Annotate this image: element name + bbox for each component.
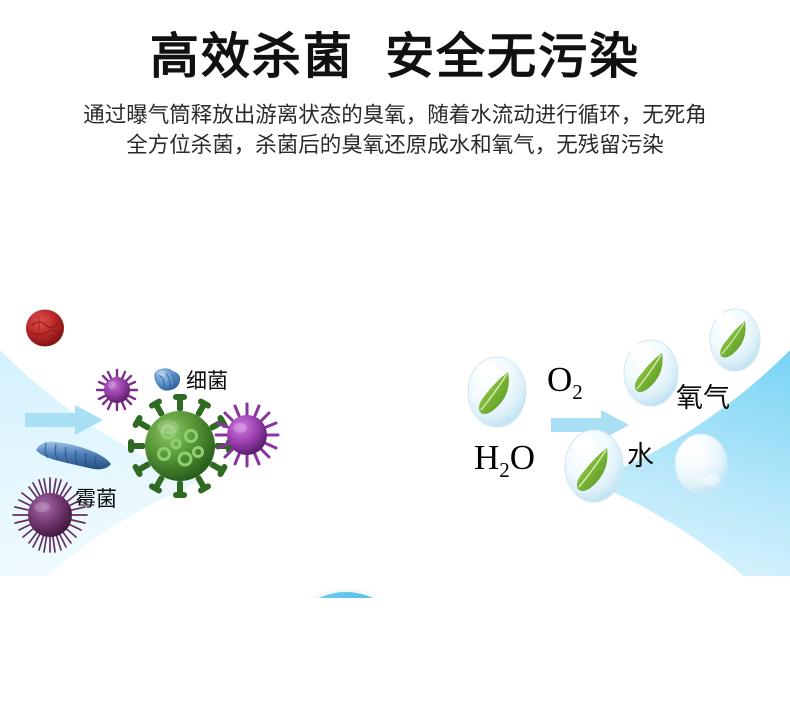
ozone-label: 臭氧 bbox=[272, 592, 420, 598]
formula-h2o-h: H bbox=[474, 438, 499, 477]
label-bacteria: 细菌 bbox=[186, 365, 228, 395]
page-title: 高效杀菌 安全无污染 bbox=[0, 33, 790, 82]
header-block: 高效杀菌 安全无污染 通过曝气筒释放出游离状态的臭氧，随着水流动进行循环，无死角… bbox=[0, 0, 790, 160]
formula-o2-sub: 2 bbox=[572, 380, 583, 404]
subtitle-line-2: 全方位杀菌，杀菌后的臭氧还原成水和氧气，无残留污染 bbox=[22, 130, 768, 160]
arrow-flow-in bbox=[25, 403, 103, 437]
formula-h2o: H2O bbox=[474, 438, 535, 483]
ozone-orb: 臭氧 bbox=[272, 592, 420, 598]
label-mold: 霉菌 bbox=[75, 483, 117, 513]
subtitle-line-1: 通过曝气筒释放出游离状态的臭氧，随着水流动进行循环，无死角 bbox=[22, 100, 768, 130]
bubble-plain-1 bbox=[673, 432, 729, 496]
germ-blue-rod bbox=[30, 436, 116, 472]
bubble-leaf-4 bbox=[563, 428, 625, 504]
bubble-leaf-3 bbox=[708, 307, 762, 373]
germ-red-blob bbox=[22, 305, 68, 351]
label-oxygen-gas: 氧气 bbox=[676, 376, 730, 415]
formula-o2-text: O bbox=[547, 360, 572, 399]
ozone-process-diagram: 细菌 bbox=[0, 248, 790, 598]
label-water: 水 bbox=[627, 434, 654, 473]
germ-purple-spiky-large bbox=[212, 400, 282, 470]
bubble-leaf-2 bbox=[622, 338, 680, 408]
bubble-leaf-1 bbox=[466, 355, 528, 429]
formula-o2: O2 bbox=[547, 360, 583, 405]
germ-blue-amoeba bbox=[150, 364, 184, 394]
page-subtitle: 通过曝气筒释放出游离状态的臭氧，随着水流动进行循环，无死角 全方位杀菌，杀菌后的… bbox=[0, 100, 790, 160]
formula-h2o-sub: 2 bbox=[499, 458, 510, 482]
formula-h2o-o: O bbox=[510, 438, 535, 477]
